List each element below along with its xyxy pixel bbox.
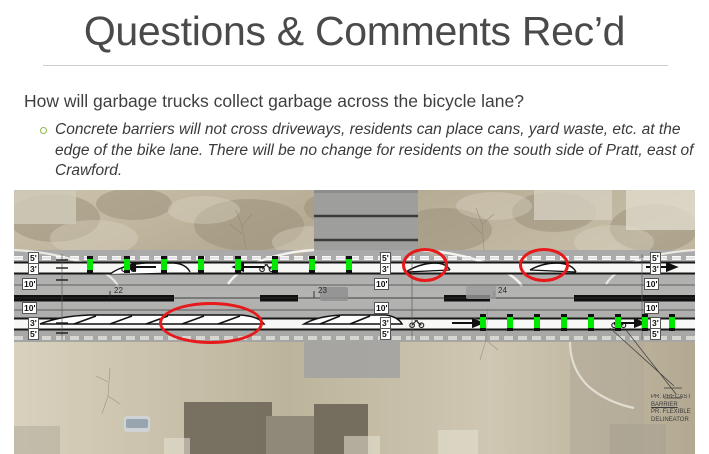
barrier-marker (507, 314, 513, 331)
annotation-ellipse (519, 248, 569, 282)
barrier-marker (309, 256, 315, 273)
dimension-label: 5' (380, 328, 391, 340)
barrier-marker (272, 256, 278, 273)
plan-legend: PR. PRECAST BARRIER PR. FLEXIBLE DELINEA… (651, 394, 695, 424)
barrier-marker (198, 256, 204, 273)
barrier-marker (124, 256, 130, 273)
barrier-marker (561, 314, 567, 331)
dimension-label: 5' (650, 328, 661, 340)
barrier-marker (346, 256, 352, 273)
dimension-label: 5' (28, 328, 39, 340)
barrier-marker (235, 256, 241, 273)
legend-line: PR. PRECAST (651, 394, 695, 402)
dimension-label: 10' (374, 302, 389, 314)
dimension-label: 3' (380, 263, 391, 275)
station-label: 24 (498, 286, 507, 295)
dimension-label: 10' (22, 278, 37, 290)
barrier-marker (588, 314, 594, 331)
dimension-label: 3' (28, 263, 39, 275)
dimension-label: 10' (644, 278, 659, 290)
slide-canvas: Questions & Comments Rec’d How will garb… (0, 0, 709, 454)
barrier-marker (87, 256, 93, 273)
dimension-label: 10' (374, 278, 389, 290)
legend-line: BARRIER (651, 402, 695, 410)
barrier-marker (534, 314, 540, 331)
barrier-marker (669, 314, 675, 331)
dimension-label: 10' (644, 302, 659, 314)
aerial-plan-image: 5' 3' 10' 10' 3' 5' 5' 3' 10' 10' 3' 5' … (14, 190, 695, 454)
barrier-marker (615, 314, 621, 331)
dimension-label: 10' (22, 302, 37, 314)
barrier-marker (161, 256, 167, 273)
page-title: Questions & Comments Rec’d (0, 4, 709, 58)
open-circle-bullet-icon (40, 127, 47, 134)
station-label: 23 (318, 286, 327, 295)
barrier-marker (642, 314, 648, 331)
dimension-label: 3' (650, 263, 661, 275)
legend-line: DELINEATOR (651, 417, 695, 425)
annotation-ellipse (159, 302, 263, 344)
annotation-ellipse (402, 248, 448, 282)
station-label: 22 (114, 286, 123, 295)
title-divider (43, 65, 668, 66)
title-block: Questions & Comments Rec’d (0, 2, 709, 64)
legend-line: PR. FLEXIBLE (651, 409, 695, 417)
barrier-marker (480, 314, 486, 331)
answer-text: Concrete barriers will not cross drivewa… (55, 120, 695, 182)
question-text: How will garbage trucks collect garbage … (24, 90, 694, 112)
